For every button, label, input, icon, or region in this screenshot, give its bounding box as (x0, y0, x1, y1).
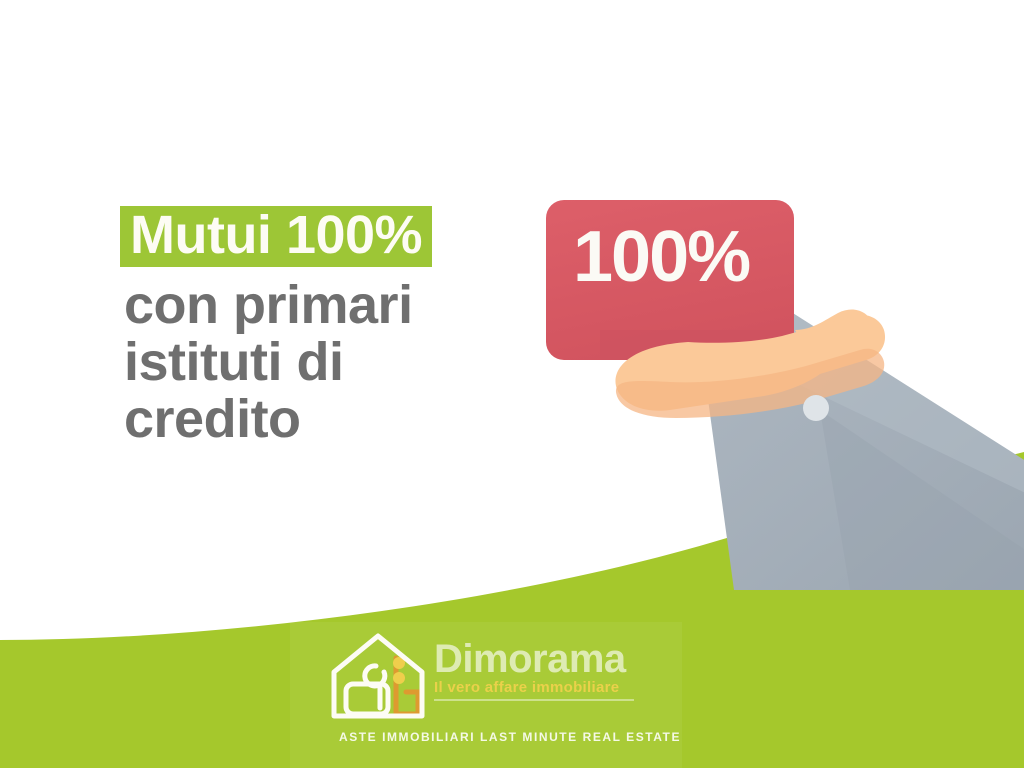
logo-wordmark: Dimorama Il vero affare immobiliare (434, 638, 666, 701)
brand-logo: Dimorama Il vero affare immobiliare (322, 630, 662, 740)
cuff-button-icon (803, 395, 829, 421)
headline-highlight-line: Mutui 100% (124, 206, 504, 267)
house-outline-icon (322, 630, 434, 722)
logo-brand-name: Dimorama (434, 638, 666, 680)
logo-tagline: Il vero affare immobiliare (434, 679, 666, 696)
headline-line-3: istituti di (124, 334, 504, 391)
logo-divider (434, 699, 634, 701)
headline-block: Mutui 100% con primari istituti di credi… (124, 206, 504, 448)
headline-line-2: con primari (124, 277, 504, 334)
banner-canvas: 100% Mutui 100% con primari istituti di … (0, 0, 1024, 768)
headline-line-4: credito (124, 391, 504, 448)
logo-strapline: ASTE IMMOBILIARI LAST MINUTE REAL ESTATE (330, 730, 690, 744)
headline-highlight-text: Mutui 100% (120, 206, 432, 267)
card-percent-label: 100% (573, 216, 749, 298)
